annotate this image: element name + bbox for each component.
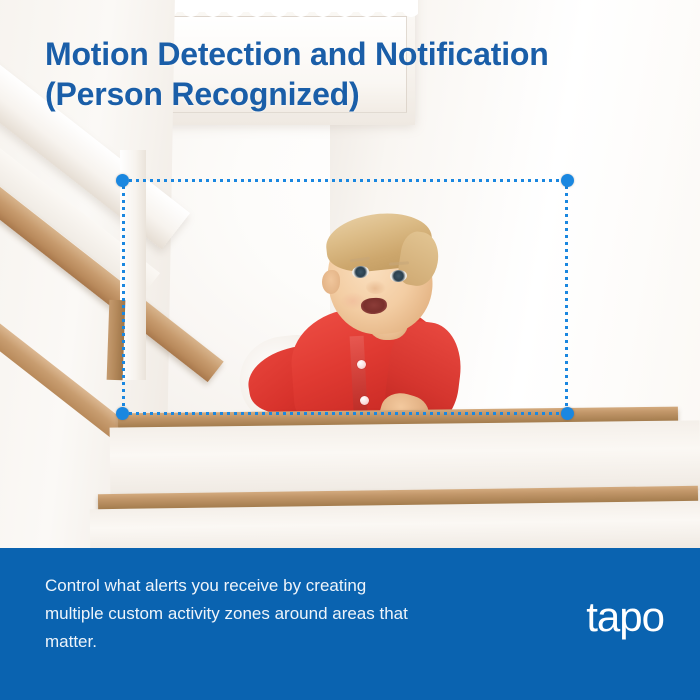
zone-edge-left — [122, 179, 125, 415]
zone-handle-bottom-right[interactable] — [561, 407, 574, 420]
page-title-line-2: (Person Recognized) — [45, 74, 645, 114]
valance-scallops — [158, 8, 418, 22]
stair-riser-lower — [90, 501, 700, 548]
zone-edge-top — [122, 179, 568, 182]
zone-edge-bottom — [122, 412, 568, 415]
tapo-logo: tapo — [586, 596, 664, 638]
footer-caption: Control what alerts you receive by creat… — [45, 572, 525, 656]
window-valance — [158, 0, 418, 12]
page-title: Motion Detection and Notification (Perso… — [45, 34, 645, 114]
zone-handle-top-left[interactable] — [116, 174, 129, 187]
footer-bar: Control what alerts you receive by creat… — [0, 548, 700, 700]
camera-scene: Motion Detection and Notification (Perso… — [0, 0, 700, 548]
footer-caption-line-3: matter. — [45, 628, 525, 656]
zone-handle-bottom-left[interactable] — [116, 407, 129, 420]
footer-caption-line-1: Control what alerts you receive by creat… — [45, 572, 525, 600]
activity-zone-overlay[interactable] — [122, 179, 568, 415]
footer-caption-line-2: multiple custom activity zones around ar… — [45, 600, 525, 628]
zone-edge-right — [565, 179, 568, 415]
promo-card: Motion Detection and Notification (Perso… — [0, 0, 700, 700]
zone-handle-top-right[interactable] — [561, 174, 574, 187]
page-title-line-1: Motion Detection and Notification — [45, 34, 645, 74]
